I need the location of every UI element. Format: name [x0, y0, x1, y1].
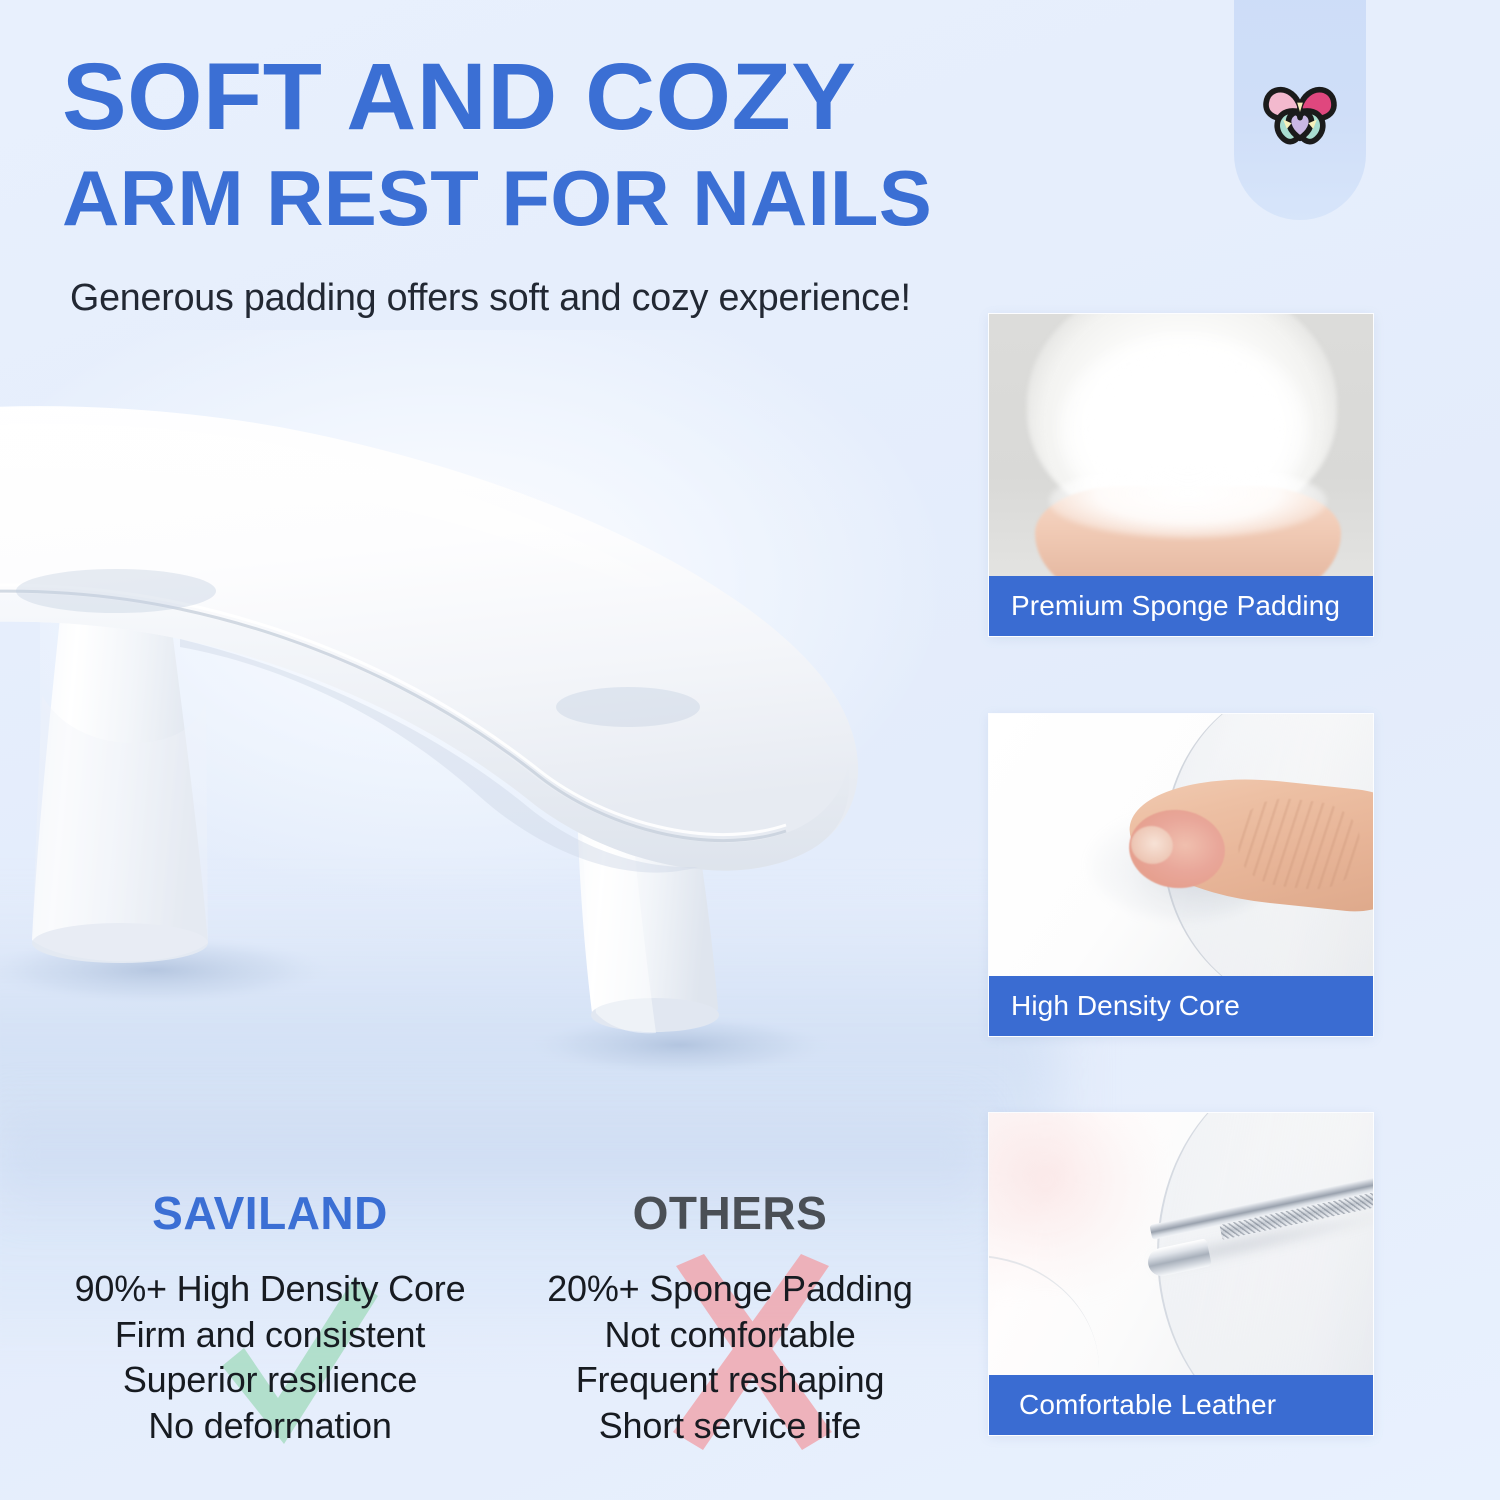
feature-panel-high-density-core[interactable]: High Density Core	[989, 714, 1373, 1036]
headline-line-2: ARM REST FOR NAILS	[62, 159, 1092, 237]
list-item: Not comfortable	[500, 1312, 960, 1358]
feature-image-high-density-core	[989, 714, 1373, 976]
comparison-block: SAVILAND 90%+ High Density Core Firm and…	[0, 1190, 960, 1480]
feature-image-sponge-padding	[989, 314, 1373, 576]
comparison-list-others: 20%+ Sponge Padding Not comfortable Freq…	[500, 1266, 960, 1449]
subtitle-text: Generous padding offers soft and cozy ex…	[70, 277, 911, 320]
list-item: Frequent reshaping	[500, 1357, 960, 1403]
list-item: Short service life	[500, 1403, 960, 1449]
comparison-column-saviland: SAVILAND 90%+ High Density Core Firm and…	[40, 1190, 500, 1449]
headline-line-1: SOFT AND COZY	[62, 52, 1092, 143]
brand-logo-badge	[1234, 0, 1366, 220]
background-glow	[40, 330, 940, 890]
comparison-heading-saviland: SAVILAND	[40, 1190, 500, 1236]
feature-panel-premium-sponge-padding[interactable]: Premium Sponge Padding	[989, 314, 1373, 636]
list-item: No deformation	[40, 1403, 500, 1449]
feature-label-3: Comfortable Leather	[989, 1375, 1373, 1435]
feature-label-1: Premium Sponge Padding	[989, 576, 1373, 636]
feature-label-2: High Density Core	[989, 976, 1373, 1036]
list-item: Firm and consistent	[40, 1312, 500, 1358]
product-infographic: SOFT AND COZY ARM REST FOR NAILS Generou…	[0, 0, 1500, 1500]
list-item: 20%+ Sponge Padding	[500, 1266, 960, 1312]
feature-panel-comfortable-leather[interactable]: Comfortable Leather	[989, 1113, 1373, 1435]
comparison-list-saviland: 90%+ High Density Core Firm and consiste…	[40, 1266, 500, 1449]
flower-hearts-logo-icon	[1253, 65, 1347, 159]
list-item: 90%+ High Density Core	[40, 1266, 500, 1312]
comparison-column-others: OTHERS 20%+ Sponge Padding Not comfortab…	[500, 1190, 960, 1449]
list-item: Superior resilience	[40, 1357, 500, 1403]
headline-block: SOFT AND COZY ARM REST FOR NAILS	[62, 52, 1072, 237]
comparison-heading-others: OTHERS	[500, 1190, 960, 1236]
feature-image-comfortable-leather	[989, 1113, 1373, 1375]
product-hero-image	[0, 395, 1020, 1095]
